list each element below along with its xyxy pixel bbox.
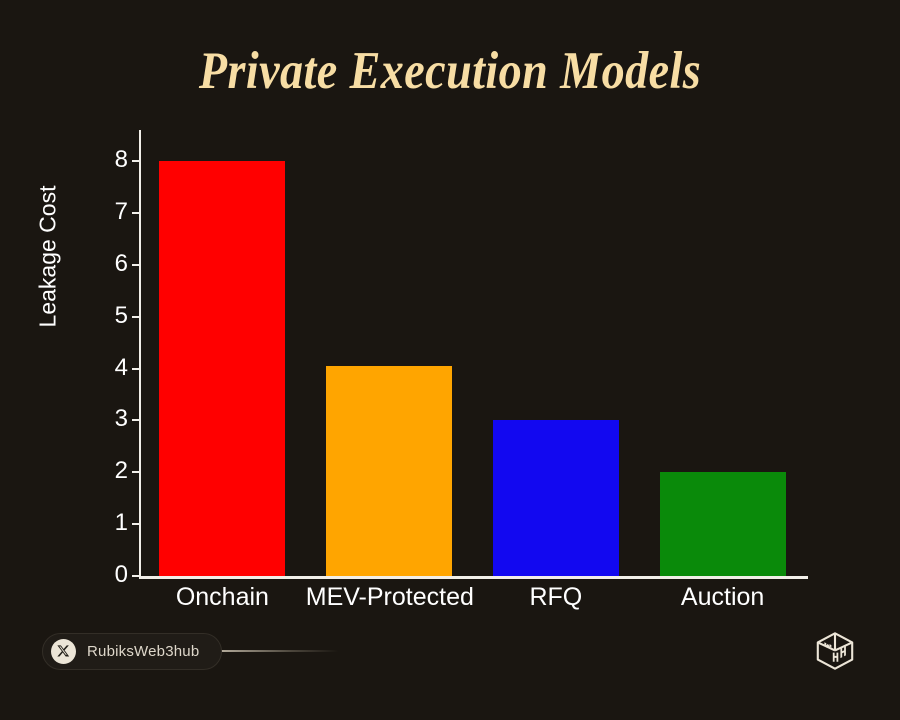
rubiks-web3hub-cube-logo xyxy=(812,630,858,672)
x-axis-tick-label: RFQ xyxy=(473,584,640,612)
social-handle-badge[interactable]: RubiksWeb3hub xyxy=(42,633,222,670)
bar-auction xyxy=(660,472,786,576)
y-axis-tick-label: 0 xyxy=(92,563,128,587)
bar-onchain xyxy=(159,161,285,576)
y-axis-tick-label: 3 xyxy=(92,407,128,431)
y-axis-tick-label: 6 xyxy=(92,252,128,276)
bar-rfq xyxy=(493,420,619,576)
y-axis-tick xyxy=(132,212,139,214)
y-axis-tick-label: 7 xyxy=(92,200,128,224)
y-axis-tick-labels: 012345678 xyxy=(84,0,128,720)
y-axis-tick-label: 4 xyxy=(92,356,128,380)
x-axis-tick-label: Auction xyxy=(639,584,806,612)
y-axis-tick xyxy=(132,419,139,421)
y-axis-tick-label: 5 xyxy=(92,304,128,328)
y-axis-tick xyxy=(132,575,139,577)
y-axis-tick xyxy=(132,264,139,266)
footer-divider-line xyxy=(216,650,338,652)
social-handle-label: RubiksWeb3hub xyxy=(87,643,199,660)
y-axis-tick-label: 8 xyxy=(92,148,128,172)
x-twitter-icon xyxy=(51,639,76,664)
bar-mev-protected xyxy=(326,366,452,576)
x-axis-spine xyxy=(139,576,808,579)
x-axis-tick-label: MEV-Protected xyxy=(306,584,473,612)
y-axis-tick-label: 1 xyxy=(92,511,128,535)
x-axis-tick-label: Onchain xyxy=(139,584,306,612)
y-axis-tick xyxy=(132,316,139,318)
y-axis-tick xyxy=(132,471,139,473)
y-axis-title: Leakage Cost xyxy=(35,137,62,377)
y-axis-tick xyxy=(132,368,139,370)
chart-title: Private Execution Models xyxy=(59,44,842,100)
y-axis-tick xyxy=(132,160,139,162)
y-axis-tick xyxy=(132,523,139,525)
y-axis-tick-label: 2 xyxy=(92,459,128,483)
chart-figure: Private Execution Models Leakage Cost 01… xyxy=(0,0,900,720)
y-axis-spine xyxy=(139,130,141,578)
